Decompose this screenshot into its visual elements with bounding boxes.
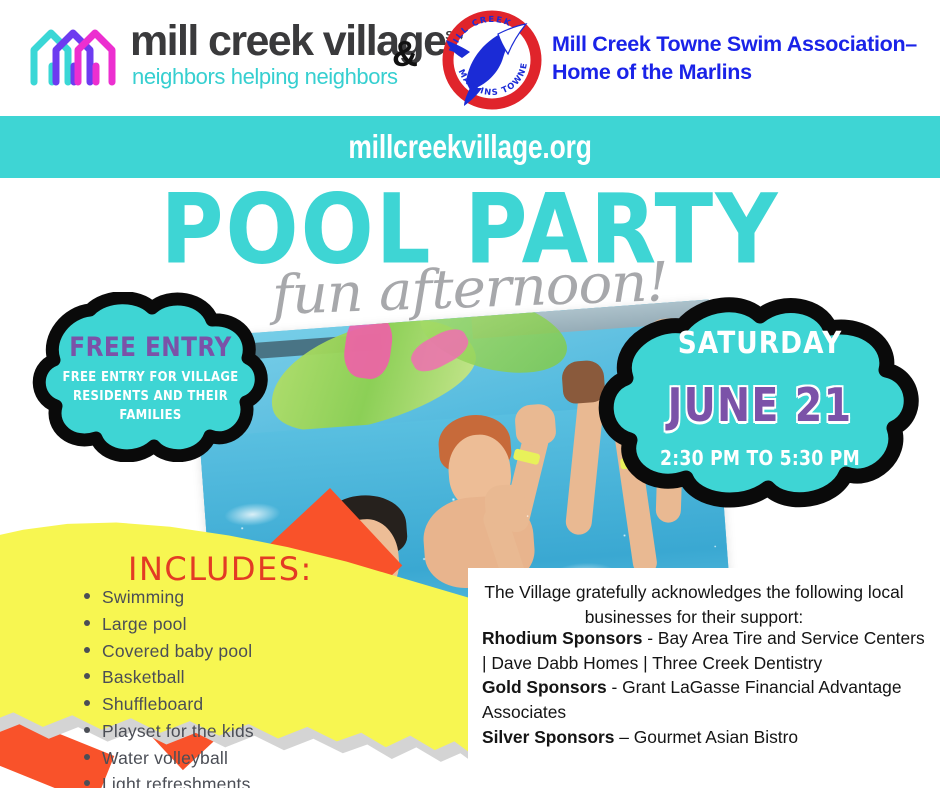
sponsor-row: Gold Sponsors - Grant LaGasse Financial …	[482, 675, 930, 724]
event-date-badge: SATURDAY JUNE 21 2:30 PM TO 5:30 PM	[590, 296, 930, 512]
association-name: Mill Creek Towne Swim Association–Home o…	[552, 30, 936, 87]
list-item: Light refreshments	[102, 771, 254, 788]
sponsor-row: Rhodium Sponsors - Bay Area Tire and Ser…	[482, 626, 930, 675]
sponsor-tier: Gold Sponsors	[482, 677, 607, 697]
poster-canvas: mill creek villageSM neighbors helping n…	[0, 0, 940, 788]
brand-tagline: neighbors helping neighbors	[132, 66, 398, 88]
sponsor-separator: -	[642, 628, 657, 648]
includes-list: Swimming Large pool Covered baby pool Ba…	[74, 584, 254, 788]
sponsor-separator: –	[614, 727, 633, 747]
list-item: Swimming	[102, 584, 254, 611]
mill-creek-village-logo: mill creek villageSM neighbors helping n…	[28, 22, 388, 96]
sponsor-tier: Silver Sponsors	[482, 727, 614, 747]
sponsors-list: Rhodium Sponsors - Bay Area Tire and Ser…	[482, 626, 930, 750]
sponsor-separator: -	[607, 677, 622, 697]
includes-heading: INCLUDES:	[128, 550, 313, 588]
list-item: Large pool	[102, 611, 254, 638]
list-item: Playset for the kids	[102, 718, 254, 745]
sponsor-row: Silver Sponsors – Gourmet Asian Bistro	[482, 725, 930, 750]
three-houses-icon	[28, 24, 128, 86]
website-url[interactable]: millcreekvillage.org	[94, 116, 846, 178]
marlin-club-badge-icon: MILL CREEK MARLINS TOWNE	[440, 8, 544, 112]
sponsors-panel: The Village gratefully acknowledges the …	[468, 568, 940, 788]
event-day: SATURDAY	[610, 326, 909, 361]
free-entry-subtext: FREE ENTRY FOR VILLAGE RESIDENTS AND THE…	[43, 368, 259, 425]
sponsors-intro: The Village gratefully acknowledges the …	[468, 580, 920, 629]
sponsor-tier: Rhodium Sponsors	[482, 628, 642, 648]
free-entry-badge: FREE ENTRY FREE ENTRY FOR VILLAGE RESIDE…	[28, 292, 273, 462]
website-banner: millcreekvillage.org	[0, 116, 940, 178]
list-item: Shuffleboard	[102, 691, 254, 718]
photo-person-hand-1	[514, 403, 557, 446]
event-time: 2:30 PM TO 5:30 PM	[614, 446, 906, 470]
list-item: Covered baby pool	[102, 638, 254, 665]
sponsor-names: Gourmet Asian Bistro	[634, 727, 798, 747]
header-bar: mill creek villageSM neighbors helping n…	[0, 0, 940, 115]
list-item: Water volleyball	[102, 745, 254, 772]
free-entry-heading: FREE ENTRY	[45, 332, 256, 363]
event-date: JUNE 21	[614, 378, 906, 432]
ampersand-separator: &	[392, 36, 418, 72]
list-item: Basketball	[102, 664, 254, 691]
